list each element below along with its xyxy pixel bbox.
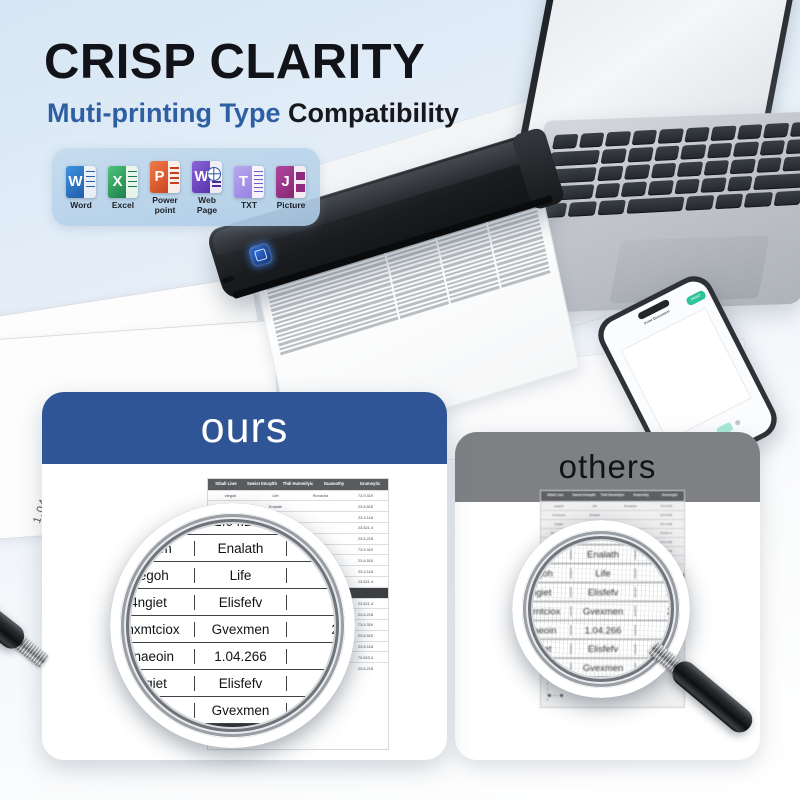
format-chip-excel: X Excel [104, 166, 142, 211]
page-title: CRISP CLARITY [44, 34, 425, 90]
table-header-row: Stball LiweSweist Emaylth Thdi Hummilyic… [541, 491, 684, 501]
format-chip-powerpoint: P Powerpoint [146, 161, 184, 215]
format-label: WebPage [188, 196, 226, 215]
webpage-file-icon: W [192, 161, 222, 193]
table-row: tcioxGvexmen [523, 659, 679, 678]
table-row: n1.04.266 [523, 531, 679, 545]
format-chip-word: W Word [62, 166, 100, 211]
table-row: tcioxGvexmen [121, 697, 344, 724]
product-marketing-scene: 1.04 Print Document PRINT [0, 0, 800, 800]
format-label: TXT [230, 201, 268, 211]
magnifier-lens: n1.04.266 hiaiutimEnalathRo vtegohLifeEd… [110, 503, 355, 748]
format-chip-txt: T TXT [230, 166, 268, 211]
format-chip-picture: J Picture [272, 166, 310, 211]
others-title: others [559, 448, 657, 486]
excel-file-icon: X [108, 166, 138, 198]
ours-header: ours [42, 392, 447, 464]
magnified-table: n1.04.266 hiaiutimEnalathRo vtegohLifeEd… [523, 531, 679, 687]
table-row: GvexmenEnalath23.6.515 [541, 510, 684, 519]
powerpoint-file-icon: P [150, 161, 180, 193]
format-chip-webpage: W WebPage [188, 161, 226, 215]
phone-print-button[interactable]: PRINT [685, 289, 707, 306]
table-row: vtegohLifeEdw [121, 562, 344, 589]
table-row: vtegohLifeRonacha73.9.319 [208, 490, 388, 501]
table-row: Onaeoin1.04.26623.6.3 [523, 621, 679, 640]
table-row: vtegohLifeEdw [523, 564, 679, 583]
laptop-keyboard [534, 124, 800, 243]
table-header-row: Stball LiweSweist Emaylth Thdi Hummilyic… [208, 479, 388, 490]
table-row: hiaiutimEnalathRo [523, 545, 679, 564]
magnifier-lens: n1.04.266 hiaiutimEnalathRo vtegohLifeEd… [512, 520, 690, 698]
ours-title: ours [201, 404, 289, 453]
page-subtitle-accent: Muti-printing Type [47, 98, 280, 128]
table-row: 4ngietElisfefv2 06:2 [121, 589, 344, 616]
magnified-content: n1.04.266 hiaiutimEnalathRo vtegohLifeEd… [121, 514, 344, 737]
table-row: 4ngietElisfefv2 06:2 [523, 583, 679, 602]
table-row: vtegohLifeRonacha73.9.319 [541, 501, 684, 510]
table-row: 4ngietElisfefv2 06 [121, 670, 344, 697]
globe-icon [207, 167, 221, 181]
format-label: Powerpoint [146, 196, 184, 215]
txt-file-icon: T [234, 166, 264, 198]
table-footer-row: Ghimnic [523, 677, 679, 687]
table-row: Onaeoin1.04.26623.6.3 [121, 643, 344, 670]
table-row: EnxmtcioxGvexmen24.6.6 [121, 616, 344, 643]
magnified-table: n1.04.266 hiaiutimEnalathRo vtegohLifeEd… [121, 514, 344, 737]
table-row: n1.04.266 [121, 514, 344, 535]
table-row: hiaiutimEnalathRo [121, 535, 344, 562]
table-footer-row: Ghimnic [121, 724, 344, 737]
page-subtitle: Muti-printing Type Compatibility [47, 98, 459, 129]
format-label: Word [62, 201, 100, 211]
format-label: Excel [104, 201, 142, 211]
page-subtitle-rest: Compatibility [288, 98, 459, 128]
format-label: Picture [272, 201, 310, 211]
word-file-icon: W [66, 166, 96, 198]
supported-formats-panel: W Word X Excel P Powerpoint W [52, 148, 320, 226]
picture-file-icon: J [276, 166, 306, 198]
magnified-content: n1.04.266 hiaiutimEnalathRo vtegohLifeEd… [523, 531, 679, 687]
table-row: EnxmtcioxGvexmen24.6.6 [523, 602, 679, 621]
